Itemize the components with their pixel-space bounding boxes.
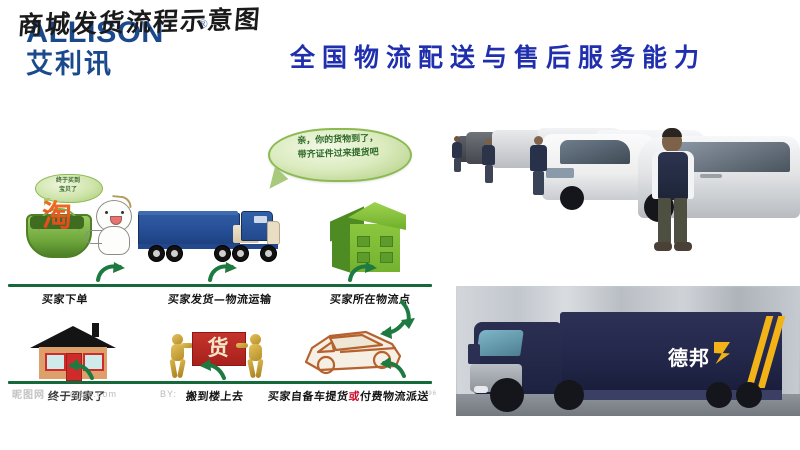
flow-divider-1 (8, 284, 432, 287)
taobao-character: 淘 (32, 200, 82, 234)
truck-front-wheel (490, 378, 524, 412)
flow-arrow-icon-6 (198, 358, 228, 380)
truck-rear-wheel-2 (736, 382, 762, 408)
truck-windshield (476, 330, 524, 356)
flow-label-2: 买家发货—物流运输 (167, 291, 272, 307)
speech-bubble-tail-icon (269, 166, 290, 192)
speech-bubble-text: 亲，你的货物到了， 带齐证件过来提货吧 (272, 132, 405, 164)
thought-bubble-text: 终于买到 宝贝了 (36, 177, 100, 194)
flow-arrow-icon-8 (378, 318, 408, 340)
staff-shoe-left (654, 242, 672, 251)
thought-bubble-line-2: 宝贝了 (36, 186, 100, 195)
flow-label-5: 搬到楼上去 (185, 388, 244, 404)
shopping-basket-icon: 淘 (26, 198, 88, 256)
truck-brand-logo: 德邦 (668, 342, 710, 371)
watermark-tail: 196 (424, 391, 437, 397)
suv-windshield (560, 140, 630, 164)
thought-bubble-line-1: 终于买到 (36, 177, 100, 186)
flow-arrow-icon-7 (378, 356, 408, 378)
flow-label-6: 买家自备车提货或付费物流派送 (267, 388, 429, 404)
staff-vest (658, 152, 688, 200)
suv-wheel (560, 186, 584, 210)
flow-divider-2 (8, 381, 432, 384)
sedan-door-handle (700, 174, 722, 178)
semi-truck-icon (138, 207, 284, 265)
logo-chinese-name: 艾利讯 (26, 51, 216, 79)
staff-shoe-right (674, 242, 692, 251)
service-fleet-photo (452, 108, 800, 270)
page-title: 全国物流配送与售后服务能力 (238, 38, 758, 74)
truck-rear-wheel-1 (706, 382, 732, 408)
truck-headlight (474, 386, 488, 393)
suv-decal (546, 168, 574, 178)
flow-arrow-icon-5 (66, 358, 96, 380)
slide-root: ALLISON ® 艾利讯 全国物流配送与售后服务能力 商城发货流程示意图 亲，… (0, 0, 800, 450)
flow-arrow-icon-3 (348, 262, 378, 282)
staff-hair (662, 128, 682, 137)
flow-label-1: 买家下单 (41, 291, 88, 307)
flow-arrow-icon-1 (96, 262, 126, 282)
truck-mid-wheel (554, 380, 584, 410)
flow-arrow-icon-2 (208, 262, 238, 282)
deppon-truck-photo: 德邦 (456, 286, 800, 416)
cartoon-buyer-icon (88, 196, 140, 258)
flow-label-6-prefix: 买家自备车提货 (267, 390, 349, 403)
flow-label-6-suffix: 付费物流派送 (359, 390, 429, 403)
truck-mirror (468, 344, 480, 364)
watermark-logo: 昵图网 (12, 386, 45, 401)
watermark-by: BY: (160, 389, 177, 399)
diagram-title: 商城发货流程示意图 (17, 0, 263, 42)
watermark-domain: nipic.com (70, 389, 117, 399)
